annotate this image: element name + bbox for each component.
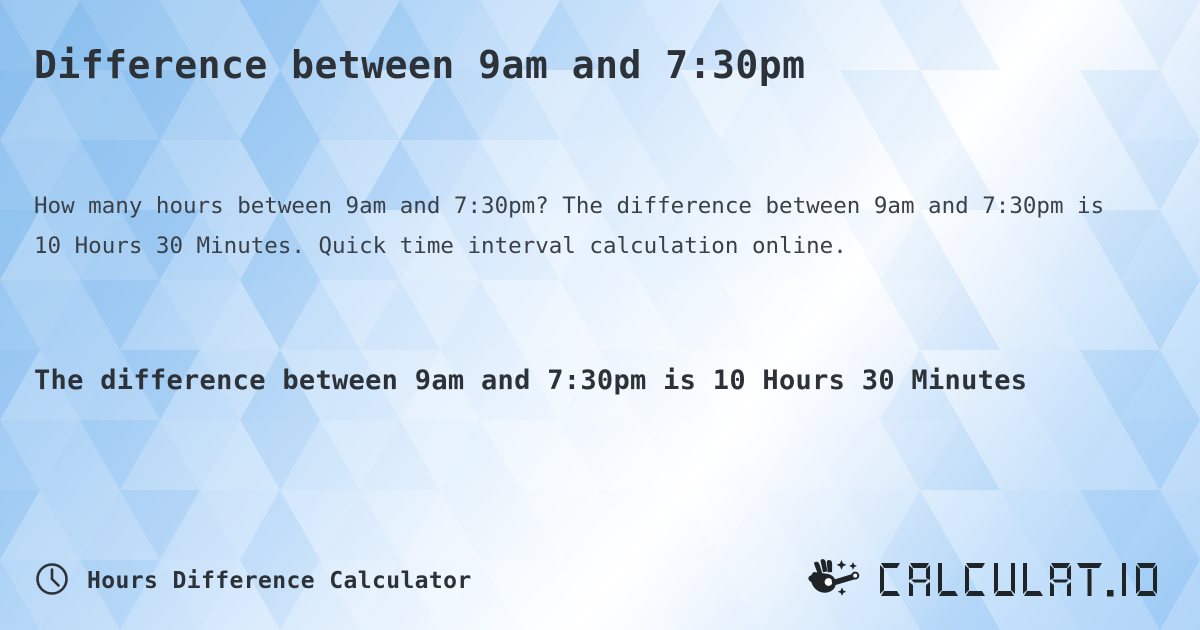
clock-icon bbox=[34, 561, 70, 601]
site-logo[interactable] bbox=[808, 556, 1166, 606]
footer-brand[interactable]: Hours Difference Calculator bbox=[34, 561, 472, 601]
hand-magic-wand-icon bbox=[808, 556, 870, 606]
answer-heading: The difference between 9am and 7:30pm is… bbox=[34, 357, 1109, 404]
page-root: Difference between 9am and 7:30pm How ma… bbox=[0, 0, 1200, 630]
page-title: Difference between 9am and 7:30pm bbox=[34, 44, 805, 87]
footer: Hours Difference Calculator bbox=[0, 550, 1200, 612]
intro-paragraph: How many hours between 9am and 7:30pm? T… bbox=[34, 186, 1139, 266]
footer-brand-label: Hours Difference Calculator bbox=[87, 568, 472, 594]
content-area: Difference between 9am and 7:30pm How ma… bbox=[0, 0, 1200, 630]
logo-wordmark bbox=[876, 559, 1166, 603]
